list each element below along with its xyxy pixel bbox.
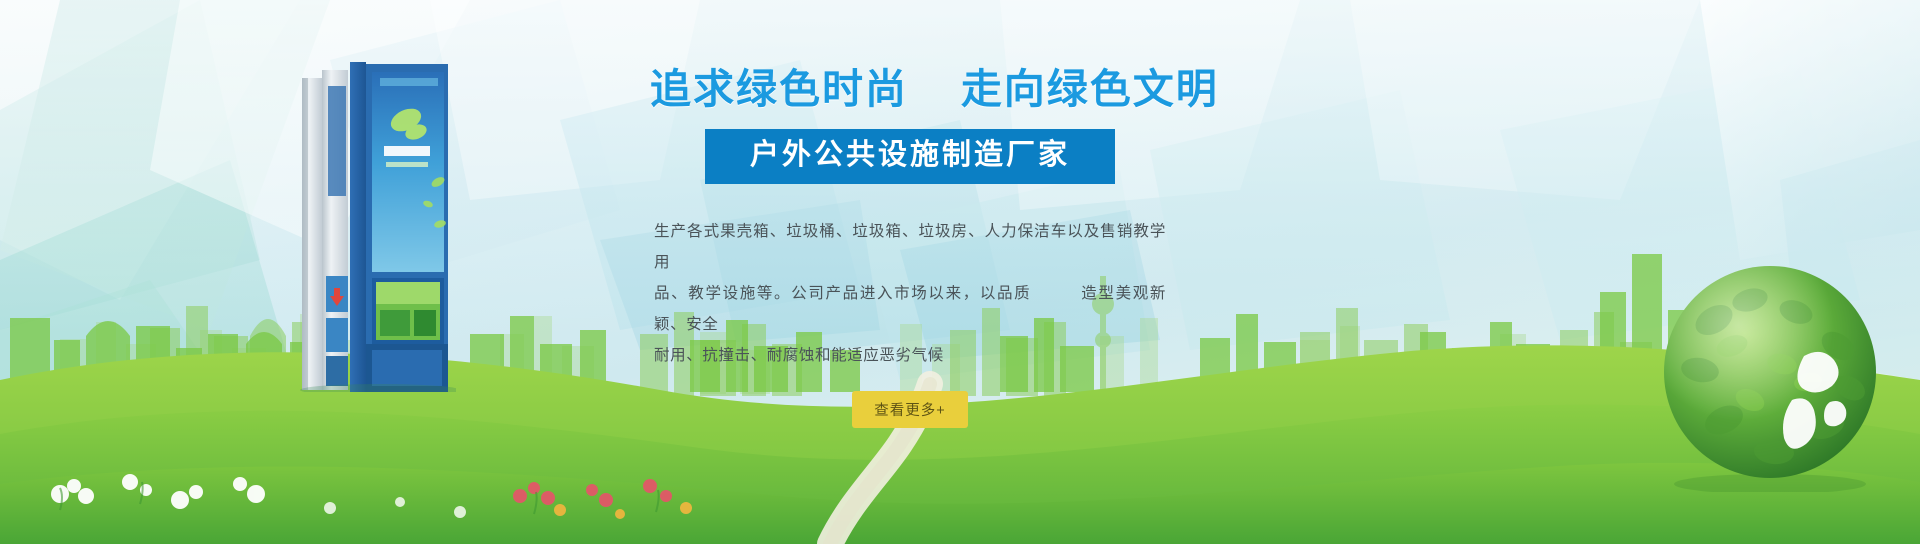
hero-banner: 追求绿色时尚 走向绿色文明 户外公共设施制造厂家 生产各式果壳箱、垃圾桶、垃圾箱… <box>0 0 1920 544</box>
paragraph-line-1: 生产各式果壳箱、垃圾桶、垃圾箱、垃圾房、人力保洁车以及售销教学用 <box>654 216 1166 278</box>
paragraph-line-2a: 品、教学设施等。公司产品进入市场以来，以品质 <box>654 285 1031 302</box>
page-title: 追求绿色时尚 走向绿色文明 <box>650 66 1170 113</box>
recycling-kiosk <box>288 62 456 392</box>
foreground-flowers <box>0 424 1920 544</box>
leaf-globe <box>1654 260 1886 492</box>
view-more-button[interactable]: 查看更多+ <box>852 391 967 428</box>
paragraph-line-3: 耐用、抗撞击、耐腐蚀和能适应恶劣气候 <box>654 340 1166 371</box>
paragraph-line-2: 品、教学设施等。公司产品进入市场以来，以品质 造型美观新颖、安全 <box>654 278 1166 340</box>
headline-right: 走向绿色文明 <box>961 66 1219 112</box>
description-paragraph: 生产各式果壳箱、垃圾桶、垃圾箱、垃圾房、人力保洁车以及售销教学用 品、教学设施等… <box>650 216 1170 371</box>
subtitle-banner: 户外公共设施制造厂家 <box>705 129 1115 184</box>
headline-left: 追求绿色时尚 <box>650 66 908 112</box>
hero-content: 追求绿色时尚 走向绿色文明 户外公共设施制造厂家 生产各式果壳箱、垃圾桶、垃圾箱… <box>650 66 1170 428</box>
